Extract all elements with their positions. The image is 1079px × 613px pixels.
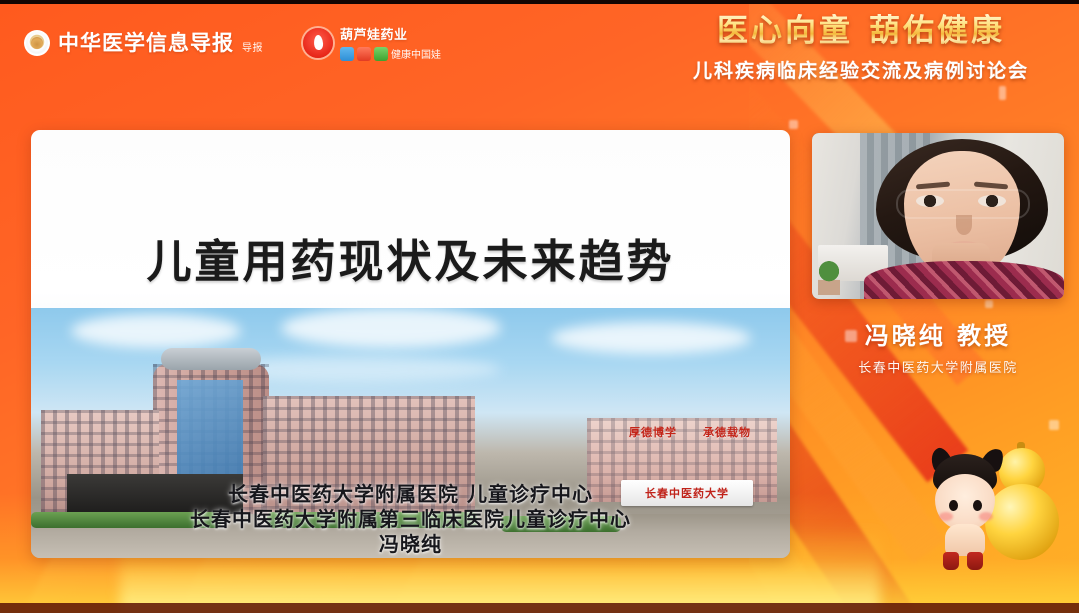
logo-zhonghua-medical[interactable]: 中华医学信息导报 导报: [24, 30, 263, 56]
wall-slogan-right: 承德载物: [703, 424, 751, 440]
video-plant: [818, 261, 840, 295]
bottom-letterbox: [0, 603, 1079, 613]
video-person: [870, 139, 1056, 299]
logo-secondary-subtitle: 健康中国娃: [391, 46, 441, 61]
slide-subtitle-block: 长春中医药大学附属医院 儿童诊疗中心 长春中医药大学附属第三临床医院儿童诊疗中心…: [31, 482, 790, 558]
speaker-affiliation: 长春中医药大学附属医院: [812, 357, 1064, 376]
slide-subtitle-line-1: 长春中医药大学附属医院 儿童诊疗中心: [31, 482, 790, 507]
speaker-caption: 冯晓纯 教授 长春中医药大学附属医院: [812, 316, 1064, 376]
gourd-flame-icon: [303, 28, 333, 58]
top-letterbox: [0, 0, 1079, 4]
logo-secondary-title: 葫芦娃药业: [340, 24, 441, 43]
calabash-boy-mascot: [915, 440, 1065, 575]
red-chip-icon: [357, 47, 371, 61]
slide-subtitle-line-3: 冯晓纯: [31, 532, 790, 557]
event-title-part1: 医心向童: [717, 13, 853, 49]
header-logos: 中华医学信息导报 导报 葫芦娃药业 健康中国娃: [24, 24, 441, 61]
speaker-name: 冯晓纯 教授: [812, 316, 1064, 351]
speaker-video-feed[interactable]: [812, 133, 1064, 299]
event-subtitle: 儿科疾病临床经验交流及病例讨论会: [661, 56, 1061, 83]
event-banner: 医心向童葫佑健康 儿科疾病临床经验交流及病例讨论会: [661, 14, 1061, 83]
wall-slogan-left: 厚德博学: [629, 424, 677, 440]
blue-chip-icon: [340, 47, 354, 61]
slide-subtitle-line-2: 长春中医药大学附属第三临床医院儿童诊疗中心: [31, 507, 790, 532]
medical-seal-icon: [24, 30, 50, 56]
event-title: 医心向童葫佑健康: [661, 14, 1061, 50]
logo-primary-text: 中华医学信息导报: [58, 32, 234, 53]
event-title-part2: 葫佑健康: [869, 13, 1005, 49]
logo-hulu-pharma[interactable]: 葫芦娃药业 健康中国娃: [303, 24, 441, 61]
mascot-character: [925, 454, 1011, 572]
green-chip-icon: [374, 47, 388, 61]
broadcast-stage: 中华医学信息导报 导报 葫芦娃药业 健康中国娃 医心向童葫佑健康 儿科疾病临床经…: [0, 0, 1079, 613]
slide-title: 儿童用药现状及未来趋势: [31, 225, 790, 290]
presentation-slide[interactable]: 儿童用药现状及未来趋势: [31, 130, 790, 558]
person-clothing: [864, 261, 1064, 299]
logo-primary-suffix: 导报: [242, 39, 263, 56]
